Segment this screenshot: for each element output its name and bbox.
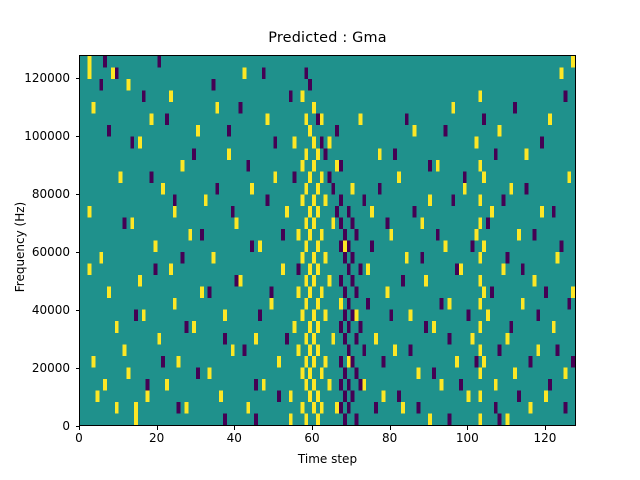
x-tick-label-5: 100 <box>456 431 479 445</box>
y-tick-label-4: 80000 <box>0 187 70 201</box>
page-title: Predicted : Gma <box>79 30 576 46</box>
y-tick-mark <box>76 426 80 427</box>
y-tick-mark <box>76 78 80 79</box>
heatmap-canvas <box>80 56 575 425</box>
y-tick-label-2: 40000 <box>0 303 70 317</box>
x-tick-label-0: 0 <box>75 431 83 445</box>
x-tick-mark <box>467 426 468 430</box>
x-tick-label-1: 20 <box>149 431 164 445</box>
y-tick-mark <box>76 368 80 369</box>
x-tick-label-2: 40 <box>227 431 242 445</box>
heatmap-axes <box>79 55 576 426</box>
y-tick-label-0: 0 <box>0 419 70 433</box>
y-tick-label-3: 60000 <box>0 245 70 259</box>
x-tick-label-4: 80 <box>382 431 397 445</box>
x-tick-mark <box>157 426 158 430</box>
x-tick-mark <box>312 426 313 430</box>
x-tick-mark <box>79 426 80 430</box>
y-tick-label-6: 120000 <box>0 71 70 85</box>
y-tick-label-1: 20000 <box>0 361 70 375</box>
y-tick-mark <box>76 310 80 311</box>
x-tick-mark <box>545 426 546 430</box>
y-tick-mark <box>76 194 80 195</box>
y-tick-label-5: 100000 <box>0 129 70 143</box>
heatmap-image <box>80 56 575 425</box>
y-tick-mark <box>76 252 80 253</box>
x-tick-mark <box>390 426 391 430</box>
x-tick-label-6: 120 <box>533 431 556 445</box>
y-tick-mark <box>76 136 80 137</box>
matplotlib-figure: Predicted : Gma Time step Frequency (Hz)… <box>0 0 640 480</box>
x-tick-label-3: 60 <box>304 431 319 445</box>
x-axis-label: Time step <box>79 452 576 466</box>
x-tick-mark <box>234 426 235 430</box>
